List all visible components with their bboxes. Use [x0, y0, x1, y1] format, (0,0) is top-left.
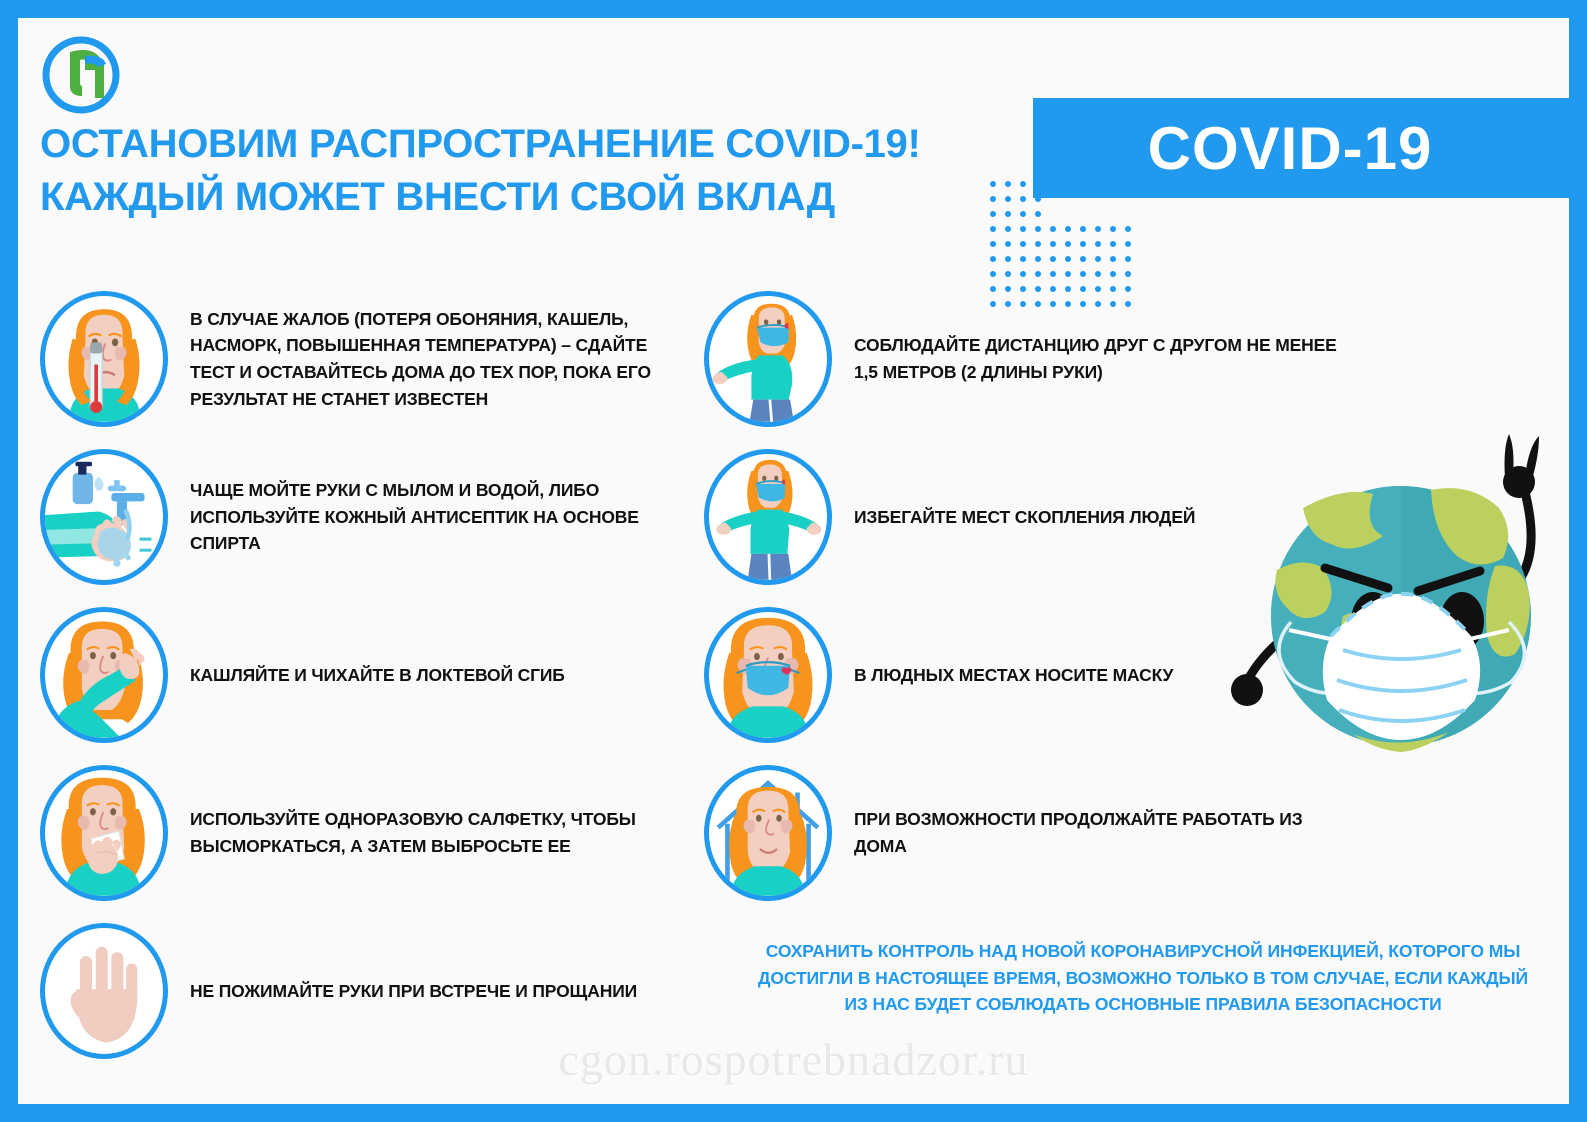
dot — [990, 211, 996, 217]
cgon-logo — [40, 34, 122, 116]
dot — [1005, 226, 1011, 232]
dot — [990, 181, 996, 187]
list-item-text: В ЛЮДНЫХ МЕСТАХ НОСИТЕ МАСКУ — [854, 662, 1173, 689]
dot — [1080, 256, 1086, 262]
covid-badge: COVID-19 — [1033, 98, 1587, 198]
dot — [1065, 271, 1071, 277]
list-item-text: ПРИ ВОЗМОЖНОСТИ ПРОДОЛЖАЙТЕ РАБОТАТЬ ИЗ … — [854, 806, 1354, 859]
dot — [1035, 211, 1041, 217]
page-title: ОСТАНОВИМ РАСПРОСТРАНЕНИЕ COVID-19! КАЖД… — [40, 118, 1040, 224]
footer-note: СОХРАНИТЬ КОНТРОЛЬ НАД НОВОЙ КОРОНАВИРУС… — [718, 938, 1568, 1018]
dot — [1125, 256, 1131, 262]
dot — [1125, 241, 1131, 247]
dot — [1035, 181, 1041, 187]
woman-with-thermometer-icon — [40, 291, 168, 427]
list-item-text: ЧАЩЕ МОЙТЕ РУКИ С МЫЛОМ И ВОДОЙ, ЛИБО ИС… — [190, 477, 690, 557]
list-item: ИСПОЛЬЗУЙТЕ ОДНОРАЗОВУЮ САЛФЕТКУ, ЧТОБЫ … — [40, 754, 705, 912]
footer-note-line3: ИЗ НАС БУДЕТ СОБЛЮДАТЬ ОСНОВНЫЕ ПРАВИЛА … — [718, 991, 1568, 1018]
dot — [1110, 226, 1116, 232]
list-item-text: НЕ ПОЖИМАЙТЕ РУКИ ПРИ ВСТРЕЧЕ И ПРОЩАНИИ — [190, 978, 637, 1005]
social-distance-arm-icon — [704, 291, 832, 427]
dot — [1005, 181, 1011, 187]
dot — [1020, 271, 1026, 277]
dot — [1050, 256, 1056, 262]
list-item-text: СОБЛЮДАЙТЕ ДИСТАНЦИЮ ДРУГ С ДРУГОМ НЕ МЕ… — [854, 332, 1354, 385]
page-title-line2: КАЖДЫЙ МОЖЕТ ВНЕСТИ СВОЙ ВКЛАД — [40, 171, 1040, 224]
cough-into-elbow-icon — [40, 607, 168, 743]
dot — [1110, 241, 1116, 247]
dot — [1095, 226, 1101, 232]
dot — [1035, 226, 1041, 232]
avoid-crowds-icon — [704, 449, 832, 585]
dot — [1080, 271, 1086, 277]
dot — [1050, 271, 1056, 277]
poster-outer-border: ОСТАНОВИМ РАСПРОСТРАНЕНИЕ COVID-19! КАЖД… — [0, 0, 1587, 1122]
dot — [1005, 271, 1011, 277]
dot — [1095, 241, 1101, 247]
wear-mask-icon — [704, 607, 832, 743]
dot — [990, 241, 996, 247]
list-item-text: ИСПОЛЬЗУЙТЕ ОДНОРАЗОВУЮ САЛФЕТКУ, ЧТОБЫ … — [190, 806, 690, 859]
dot — [990, 271, 996, 277]
dot — [990, 226, 996, 232]
dot — [1035, 241, 1041, 247]
list-item: СОБЛЮДАЙТЕ ДИСТАНЦИЮ ДРУГ С ДРУГОМ НЕ МЕ… — [704, 280, 1369, 438]
dot — [1005, 196, 1011, 202]
dot — [1005, 241, 1011, 247]
dot — [1095, 256, 1101, 262]
dot — [1050, 241, 1056, 247]
dot — [1110, 271, 1116, 277]
list-item-text: КАШЛЯЙТЕ И ЧИХАЙТЕ В ЛОКТЕВОЙ СГИБ — [190, 662, 565, 689]
dot — [1005, 211, 1011, 217]
page-title-line1: ОСТАНОВИМ РАСПРОСТРАНЕНИЕ COVID-19! — [40, 122, 921, 166]
dot — [1050, 226, 1056, 232]
covid-badge-label: COVID-19 — [1148, 114, 1433, 183]
tips-column-left: В СЛУЧАЕ ЖАЛОБ (ПОТЕРЯ ОБОНЯНИЯ, КАШЕЛЬ,… — [40, 280, 705, 1070]
dot — [1035, 196, 1041, 202]
watermark: cgon.rospotrebnadzor.ru — [18, 1033, 1569, 1086]
washing-hands-icon — [40, 449, 168, 585]
list-item: КАШЛЯЙТЕ И ЧИХАЙТЕ В ЛОКТЕВОЙ СГИБ — [40, 596, 705, 754]
dot — [1065, 226, 1071, 232]
dot — [1020, 211, 1026, 217]
list-item-text: ИЗБЕГАЙТЕ МЕСТ СКОПЛЕНИЯ ЛЮДЕЙ — [854, 504, 1195, 531]
dot — [1125, 226, 1131, 232]
dot — [1065, 241, 1071, 247]
dot — [1020, 256, 1026, 262]
list-item-text: В СЛУЧАЕ ЖАЛОБ (ПОТЕРЯ ОБОНЯНИЯ, КАШЕЛЬ,… — [190, 306, 690, 412]
poster-inner: ОСТАНОВИМ РАСПРОСТРАНЕНИЕ COVID-19! КАЖД… — [18, 18, 1569, 1104]
dot — [1065, 256, 1071, 262]
earth-wearing-mask-icon — [1203, 416, 1587, 796]
dot — [1020, 226, 1026, 232]
dot — [990, 196, 996, 202]
tissue-icon — [40, 765, 168, 901]
dot — [1080, 226, 1086, 232]
dot — [1035, 271, 1041, 277]
dot — [1080, 241, 1086, 247]
list-item: В СЛУЧАЕ ЖАЛОБ (ПОТЕРЯ ОБОНЯНИЯ, КАШЕЛЬ,… — [40, 280, 705, 438]
dot — [1020, 181, 1026, 187]
dot — [1005, 256, 1011, 262]
dot — [1095, 271, 1101, 277]
dot — [1020, 241, 1026, 247]
footer-note-line2: ДОСТИГЛИ В НАСТОЯЩЕЕ ВРЕМЯ, ВОЗМОЖНО ТОЛ… — [718, 965, 1568, 992]
work-from-home-icon — [704, 765, 832, 901]
footer-note-line1: СОХРАНИТЬ КОНТРОЛЬ НАД НОВОЙ КОРОНАВИРУС… — [718, 938, 1568, 965]
dot — [1125, 271, 1131, 277]
dot — [1035, 256, 1041, 262]
dot — [990, 256, 996, 262]
list-item: ЧАЩЕ МОЙТЕ РУКИ С МЫЛОМ И ВОДОЙ, ЛИБО ИС… — [40, 438, 705, 596]
dot — [1020, 196, 1026, 202]
dot — [1110, 256, 1116, 262]
